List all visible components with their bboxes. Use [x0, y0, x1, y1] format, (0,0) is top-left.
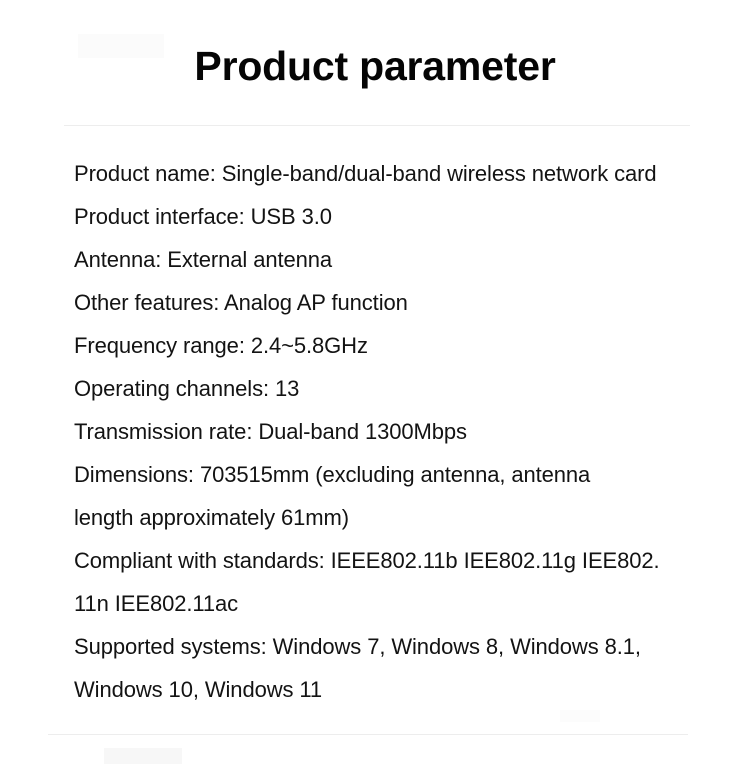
spec-line: Other features: Analog AP function	[74, 281, 734, 324]
page-title: Product parameter	[0, 38, 750, 94]
spec-line: Antenna: External antenna	[74, 238, 734, 281]
spec-line: Dimensions: 703515mm (excluding antenna,…	[74, 453, 734, 496]
spec-line: Product name: Single-band/dual-band wire…	[74, 152, 734, 195]
spec-line: Product interface: USB 3.0	[74, 195, 734, 238]
product-parameter-page: Product parameter Product name: Single-b…	[0, 0, 750, 767]
compression-artifact-mid-right	[560, 710, 600, 722]
spec-list: Product name: Single-band/dual-band wire…	[74, 152, 734, 711]
spec-line: Windows 10, Windows 11	[74, 668, 734, 711]
spec-line: Supported systems: Windows 7, Windows 8,…	[74, 625, 734, 668]
spec-line: Operating channels: 13	[74, 367, 734, 410]
compression-artifact-bottom-left	[104, 748, 182, 764]
spec-line: Transmission rate: Dual-band 1300Mbps	[74, 410, 734, 453]
spec-line: length approximately 61mm)	[74, 496, 734, 539]
spec-line: 11n IEE802.11ac	[74, 582, 734, 625]
spec-line: Frequency range: 2.4~5.8GHz	[74, 324, 734, 367]
spec-line: Compliant with standards: IEEE802.11b IE…	[74, 539, 734, 582]
divider-bottom	[48, 734, 688, 735]
divider-top	[64, 125, 690, 126]
